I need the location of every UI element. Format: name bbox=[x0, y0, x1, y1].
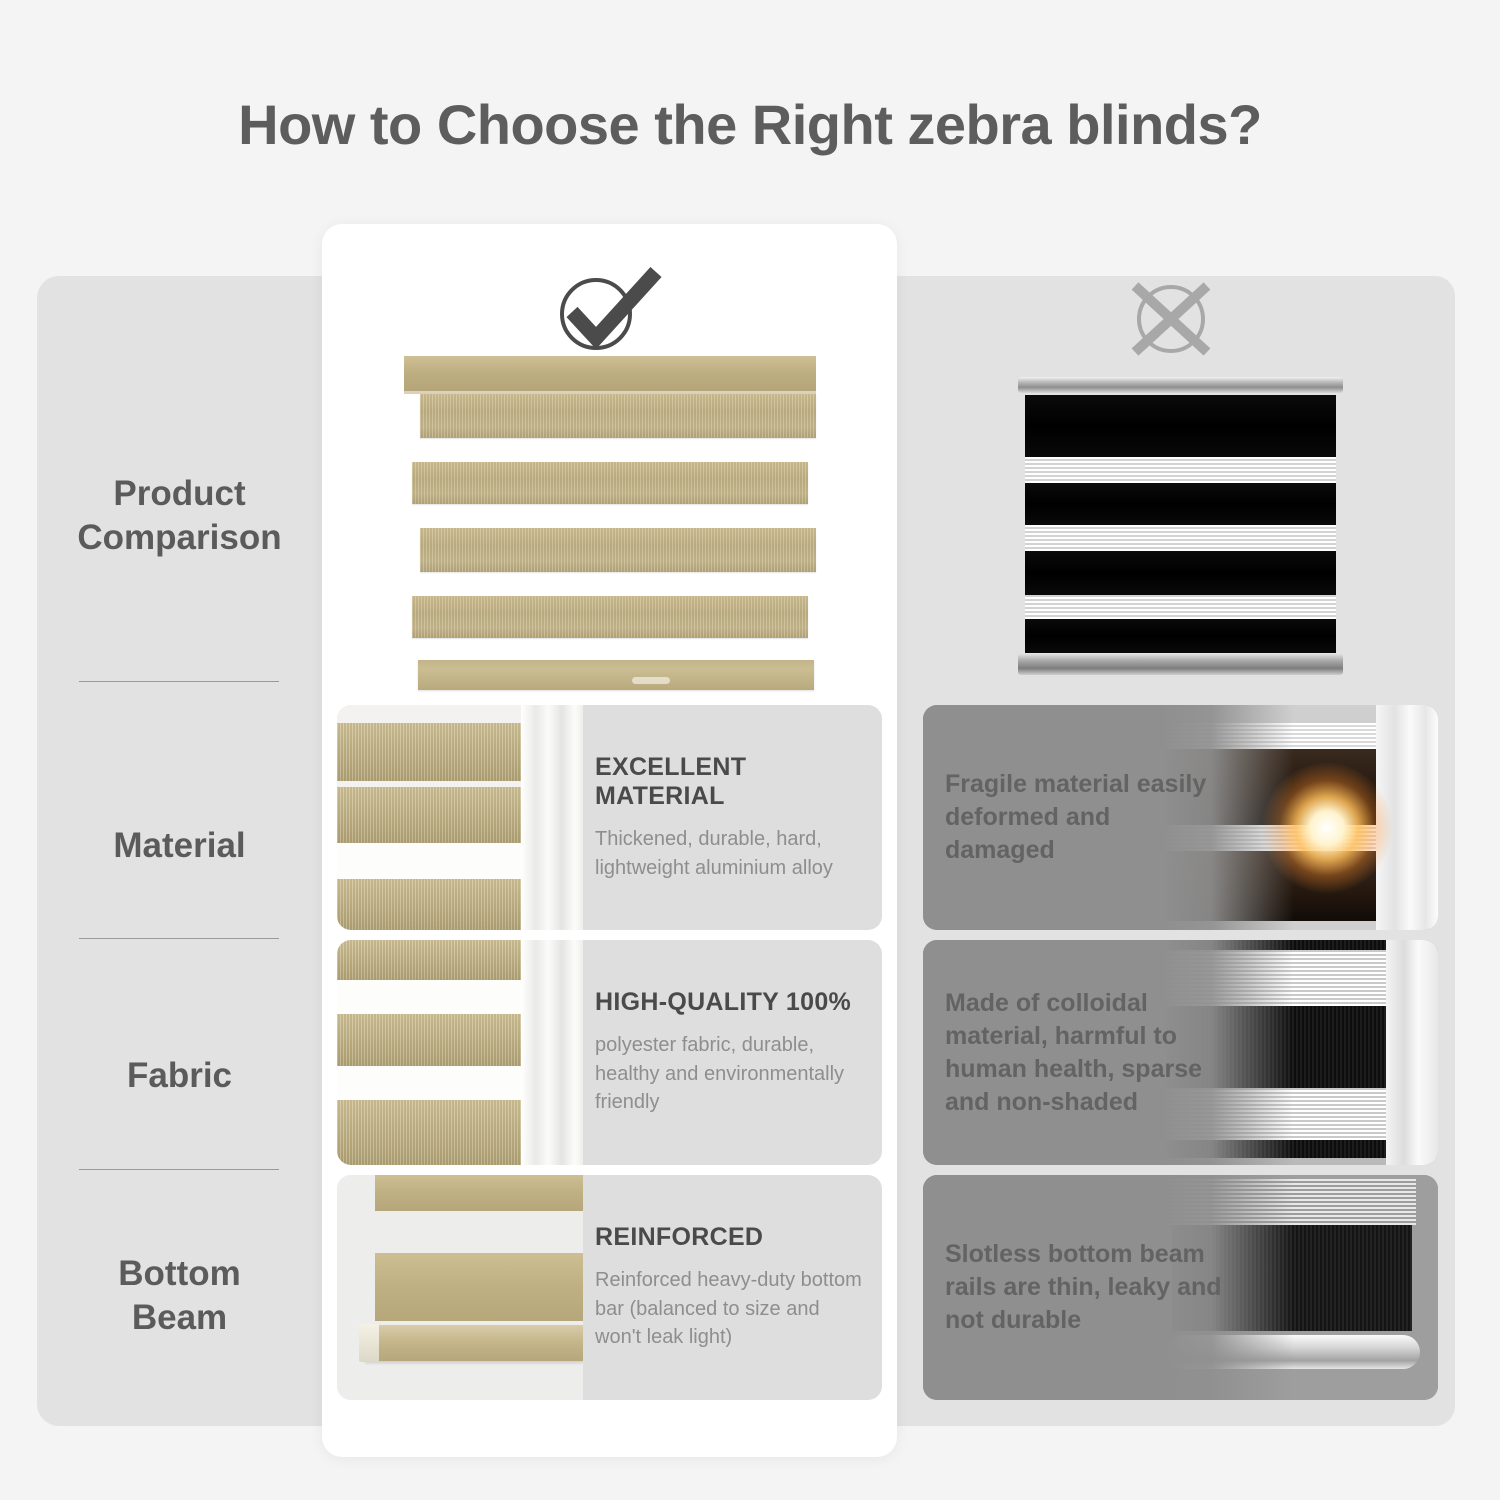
cross-circle-icon bbox=[1118, 278, 1224, 360]
window-frame-casing bbox=[521, 940, 583, 1165]
window-frame-casing bbox=[521, 705, 583, 930]
good-feature-row-bottom-beam: REINFORCED Reinforced heavy-duty bottom … bbox=[337, 1175, 882, 1400]
black-blind-bottom-bar bbox=[1018, 653, 1343, 675]
frame-photo-sheer bbox=[337, 843, 531, 879]
tan-blind-slat bbox=[412, 596, 808, 638]
tan-blind-headrail bbox=[404, 356, 816, 394]
frame-photo-slat bbox=[337, 1100, 531, 1165]
category-sidebar: Product Comparison Material Fabric Botto… bbox=[37, 276, 322, 1426]
sidebar-row-bottom-beam: Bottom Beam bbox=[37, 1206, 322, 1386]
sidebar-row-material: Material bbox=[37, 766, 322, 926]
good-feature-title: HIGH-QUALITY 100% bbox=[595, 988, 882, 1017]
sidebar-label-line1: Bottom bbox=[118, 1254, 240, 1293]
black-blind-opaque-band bbox=[1025, 395, 1336, 457]
frame-photo-slat bbox=[337, 940, 531, 980]
tan-blind-bottom-bar bbox=[418, 660, 814, 690]
sidebar-label-line2: Comparison bbox=[77, 518, 281, 557]
bad-feature-row-fabric: Made of colloidal material, harmful to h… bbox=[923, 940, 1438, 1165]
sidebar-label-bottom-beam: Bottom Beam bbox=[118, 1252, 240, 1340]
good-feature-title: REINFORCED bbox=[595, 1223, 882, 1252]
bad-feature-text-block: Slotless bottom beam rails are thin, lea… bbox=[923, 1175, 1223, 1400]
tan-blind-slat bbox=[420, 528, 816, 572]
bottom-bar-end-cap bbox=[359, 1324, 379, 1362]
black-zebra-blind-hero-image bbox=[1018, 377, 1343, 675]
good-feature-photo-bottom-beam bbox=[337, 1175, 583, 1400]
good-feature-body: Reinforced heavy-duty bottom bar (balanc… bbox=[595, 1266, 867, 1351]
bad-feature-text-block: Fragile material easily deformed and dam… bbox=[923, 705, 1223, 930]
black-blind-headrail bbox=[1018, 377, 1343, 393]
sidebar-label-line1: Product bbox=[113, 474, 245, 513]
tan-blind-slat bbox=[420, 394, 816, 438]
sidebar-label-line1: Fabric bbox=[127, 1056, 232, 1095]
frame-photo-sheer bbox=[337, 980, 531, 1014]
page-title: How to Choose the Right zebra blinds? bbox=[0, 92, 1500, 157]
bad-feature-row-bottom-beam: Slotless bottom beam rails are thin, lea… bbox=[923, 1175, 1438, 1400]
frame-photo-slat bbox=[337, 723, 531, 781]
good-feature-photo-fabric bbox=[337, 940, 583, 1165]
black-blind-opaque-band bbox=[1025, 551, 1336, 595]
frame-photo-sheer bbox=[337, 1066, 531, 1100]
frame-photo-slat bbox=[337, 1014, 531, 1066]
good-feature-row-fabric: HIGH-QUALITY 100% polyester fabric, dura… bbox=[337, 940, 882, 1165]
good-feature-photo-material bbox=[337, 705, 583, 930]
check-circle-icon bbox=[548, 262, 668, 358]
sidebar-divider-3 bbox=[79, 1169, 279, 1170]
bad-feature-title: Slotless bottom beam rails are thin, lea… bbox=[945, 1238, 1223, 1337]
reinforced-bottom-bar bbox=[365, 1325, 583, 1361]
sidebar-label-line1: Material bbox=[113, 826, 245, 865]
good-feature-row-material: EXCELLENT MATERIAL Thickened, durable, h… bbox=[337, 705, 882, 930]
reinforced-bottom-bar-photo bbox=[337, 1175, 583, 1400]
sidebar-divider-2 bbox=[79, 938, 279, 939]
sidebar-divider-1 bbox=[79, 681, 279, 682]
black-blind-sheer-band bbox=[1025, 457, 1336, 483]
bad-feature-row-material: Fragile material easily deformed and dam… bbox=[923, 705, 1438, 930]
sidebar-row-fabric: Fabric bbox=[37, 996, 322, 1156]
good-feature-body: polyester fabric, durable, healthy and e… bbox=[595, 1031, 867, 1116]
bad-feature-title: Fragile material easily deformed and dam… bbox=[945, 768, 1223, 867]
tan-blind-fabric-closeup-photo bbox=[337, 940, 583, 1165]
tan-blind-in-window-frame-photo bbox=[337, 705, 583, 930]
frame-photo-slat bbox=[337, 879, 531, 930]
sidebar-label-material: Material bbox=[113, 824, 245, 868]
bad-feature-title: Made of colloidal material, harmful to h… bbox=[945, 987, 1223, 1119]
bad-feature-text-block: Made of colloidal material, harmful to h… bbox=[923, 940, 1223, 1165]
beam-photo-slat bbox=[375, 1253, 583, 1321]
black-blind-opaque-band bbox=[1025, 483, 1336, 525]
black-blind-opaque-band bbox=[1025, 619, 1336, 653]
tan-blind-slat bbox=[412, 462, 808, 504]
black-blind-sheer-band bbox=[1025, 595, 1336, 619]
sidebar-row-product-comparison: Product Comparison bbox=[37, 426, 322, 606]
tan-zebra-blind-hero-image bbox=[404, 356, 816, 696]
black-blind-sheer-band bbox=[1025, 525, 1336, 551]
good-feature-body: Thickened, durable, hard, lightweight al… bbox=[595, 825, 867, 882]
good-feature-title: EXCELLENT MATERIAL bbox=[595, 753, 882, 811]
beam-photo-slat bbox=[375, 1175, 583, 1211]
sidebar-label-product-comparison: Product Comparison bbox=[77, 472, 281, 560]
sidebar-label-line2: Beam bbox=[132, 1298, 227, 1337]
frame-photo-slat bbox=[337, 787, 531, 843]
sidebar-label-fabric: Fabric bbox=[127, 1054, 232, 1098]
